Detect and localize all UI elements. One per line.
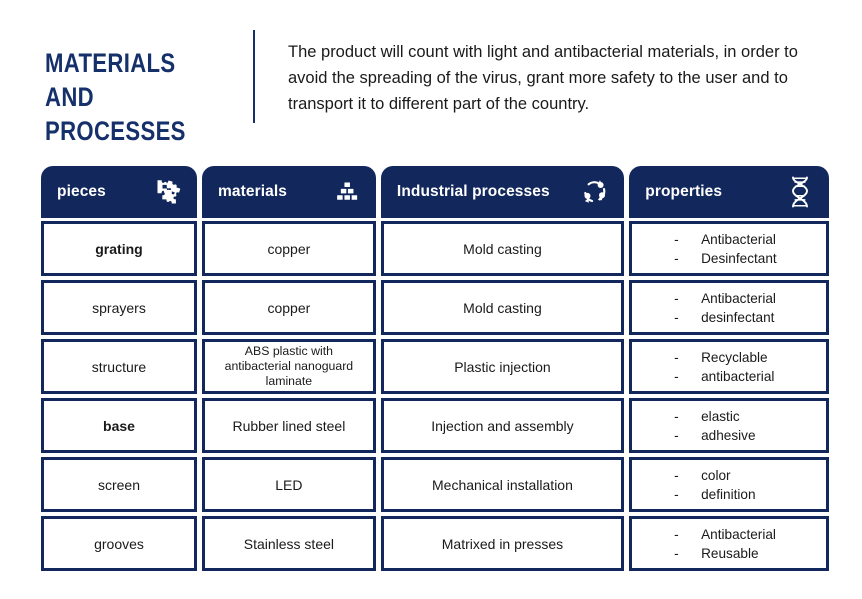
property-label: color <box>701 466 730 485</box>
materials-processes-table: pieces <box>41 166 829 575</box>
bullet-dash-icon: - <box>674 466 701 485</box>
cell-properties: -elastic-adhesive <box>629 398 829 453</box>
cell-process: Mechanical installation <box>381 457 624 512</box>
bullet-dash-icon: - <box>674 230 701 249</box>
property-label: Antibacterial <box>701 230 776 249</box>
cell-material: LED <box>202 457 376 512</box>
bullet-dash-icon: - <box>674 485 701 504</box>
property-item: -definition <box>674 485 755 504</box>
property-item: -color <box>674 466 755 485</box>
cell-material: copper <box>202 221 376 276</box>
table-row: sprayerscopperMold casting-Antibacterial… <box>41 280 829 335</box>
cell-piece: base <box>41 398 197 453</box>
property-item: -Antibacterial <box>674 230 777 249</box>
bullet-dash-icon: - <box>674 289 701 308</box>
table-row: screenLEDMechanical installation-color-d… <box>41 457 829 512</box>
table-header-row: pieces <box>41 166 829 218</box>
cell-material: Stainless steel <box>202 516 376 571</box>
property-label: adhesive <box>701 426 755 445</box>
cell-material: ABS plastic with antibacterial nanoguard… <box>202 339 376 394</box>
cell-process: Matrixed in presses <box>381 516 624 571</box>
property-label: definition <box>701 485 755 504</box>
header-section: MATERIALS AND PROCESSES The product will… <box>0 28 862 138</box>
cell-piece: grating <box>41 221 197 276</box>
property-list: -elastic-adhesive <box>674 407 755 445</box>
property-label: desinfectant <box>701 308 774 327</box>
property-item: -adhesive <box>674 426 755 445</box>
cell-properties: -Antibacterial-Desinfectant <box>629 221 829 276</box>
table-body: gratingcopperMold casting-Antibacterial-… <box>41 221 829 571</box>
property-item: -Antibacterial <box>674 289 776 308</box>
property-item: -Desinfectant <box>674 249 777 268</box>
cell-properties: -Recyclable-antibacterial <box>629 339 829 394</box>
cell-material: copper <box>202 280 376 335</box>
cell-process: Plastic injection <box>381 339 624 394</box>
property-list: -Recyclable-antibacterial <box>674 348 774 386</box>
property-item: -Reusable <box>674 544 776 563</box>
dna-helix-icon <box>785 177 815 207</box>
slide-root: MATERIALS AND PROCESSES The product will… <box>0 0 862 599</box>
bullet-dash-icon: - <box>674 544 701 563</box>
cell-piece: grooves <box>41 516 197 571</box>
property-item: -Antibacterial <box>674 525 776 544</box>
property-label: Desinfectant <box>701 249 777 268</box>
cell-piece: structure <box>41 339 197 394</box>
bullet-dash-icon: - <box>674 426 701 445</box>
bullet-dash-icon: - <box>674 249 701 268</box>
property-list: -Antibacterial-Reusable <box>674 525 776 563</box>
header-vertical-divider <box>253 30 255 123</box>
property-label: Antibacterial <box>701 289 776 308</box>
property-item: -Recyclable <box>674 348 774 367</box>
property-item: -elastic <box>674 407 755 426</box>
page-title: MATERIALS AND PROCESSES <box>45 28 209 148</box>
table-row: groovesStainless steelMatrixed in presse… <box>41 516 829 571</box>
table-row: baseRubber lined steelInjection and asse… <box>41 398 829 453</box>
table-header-materials[interactable]: materials <box>202 166 376 218</box>
cell-properties: -Antibacterial-desinfectant <box>629 280 829 335</box>
table-header-label: materials <box>218 183 287 201</box>
cell-piece: sprayers <box>41 280 197 335</box>
cycle-arrows-icon <box>580 177 610 207</box>
cell-process: Mold casting <box>381 280 624 335</box>
cell-material: Rubber lined steel <box>202 398 376 453</box>
bullet-dash-icon: - <box>674 308 701 327</box>
property-label: Antibacterial <box>701 525 776 544</box>
puzzle-pieces-icon <box>153 177 183 207</box>
table-header-label: Industrial processes <box>397 183 550 201</box>
property-label: elastic <box>701 407 740 426</box>
property-list: -Antibacterial-Desinfectant <box>674 230 777 268</box>
bullet-dash-icon: - <box>674 525 701 544</box>
bullet-dash-icon: - <box>674 348 701 367</box>
cell-piece: screen <box>41 457 197 512</box>
header-description: The product will count with light and an… <box>288 28 836 117</box>
property-label: Reusable <box>701 544 758 563</box>
property-item: -desinfectant <box>674 308 776 327</box>
table-row: gratingcopperMold casting-Antibacterial-… <box>41 221 829 276</box>
table-header-label: properties <box>645 183 722 201</box>
property-list: -Antibacterial-desinfectant <box>674 289 776 327</box>
bullet-dash-icon: - <box>674 367 701 386</box>
table-header-industrial-processes[interactable]: Industrial processes <box>381 166 624 218</box>
property-label: antibacterial <box>701 367 774 386</box>
brick-stack-icon <box>332 177 362 207</box>
table-header-properties[interactable]: properties <box>629 166 829 218</box>
cell-process: Injection and assembly <box>381 398 624 453</box>
cell-process: Mold casting <box>381 221 624 276</box>
table-header-label: pieces <box>57 183 106 201</box>
property-label: Recyclable <box>701 348 768 367</box>
table-header-pieces[interactable]: pieces <box>41 166 197 218</box>
property-list: -color-definition <box>674 466 755 504</box>
bullet-dash-icon: - <box>674 407 701 426</box>
cell-properties: -Antibacterial-Reusable <box>629 516 829 571</box>
table-row: structureABS plastic with antibacterial … <box>41 339 829 394</box>
property-item: -antibacterial <box>674 367 774 386</box>
cell-properties: -color-definition <box>629 457 829 512</box>
